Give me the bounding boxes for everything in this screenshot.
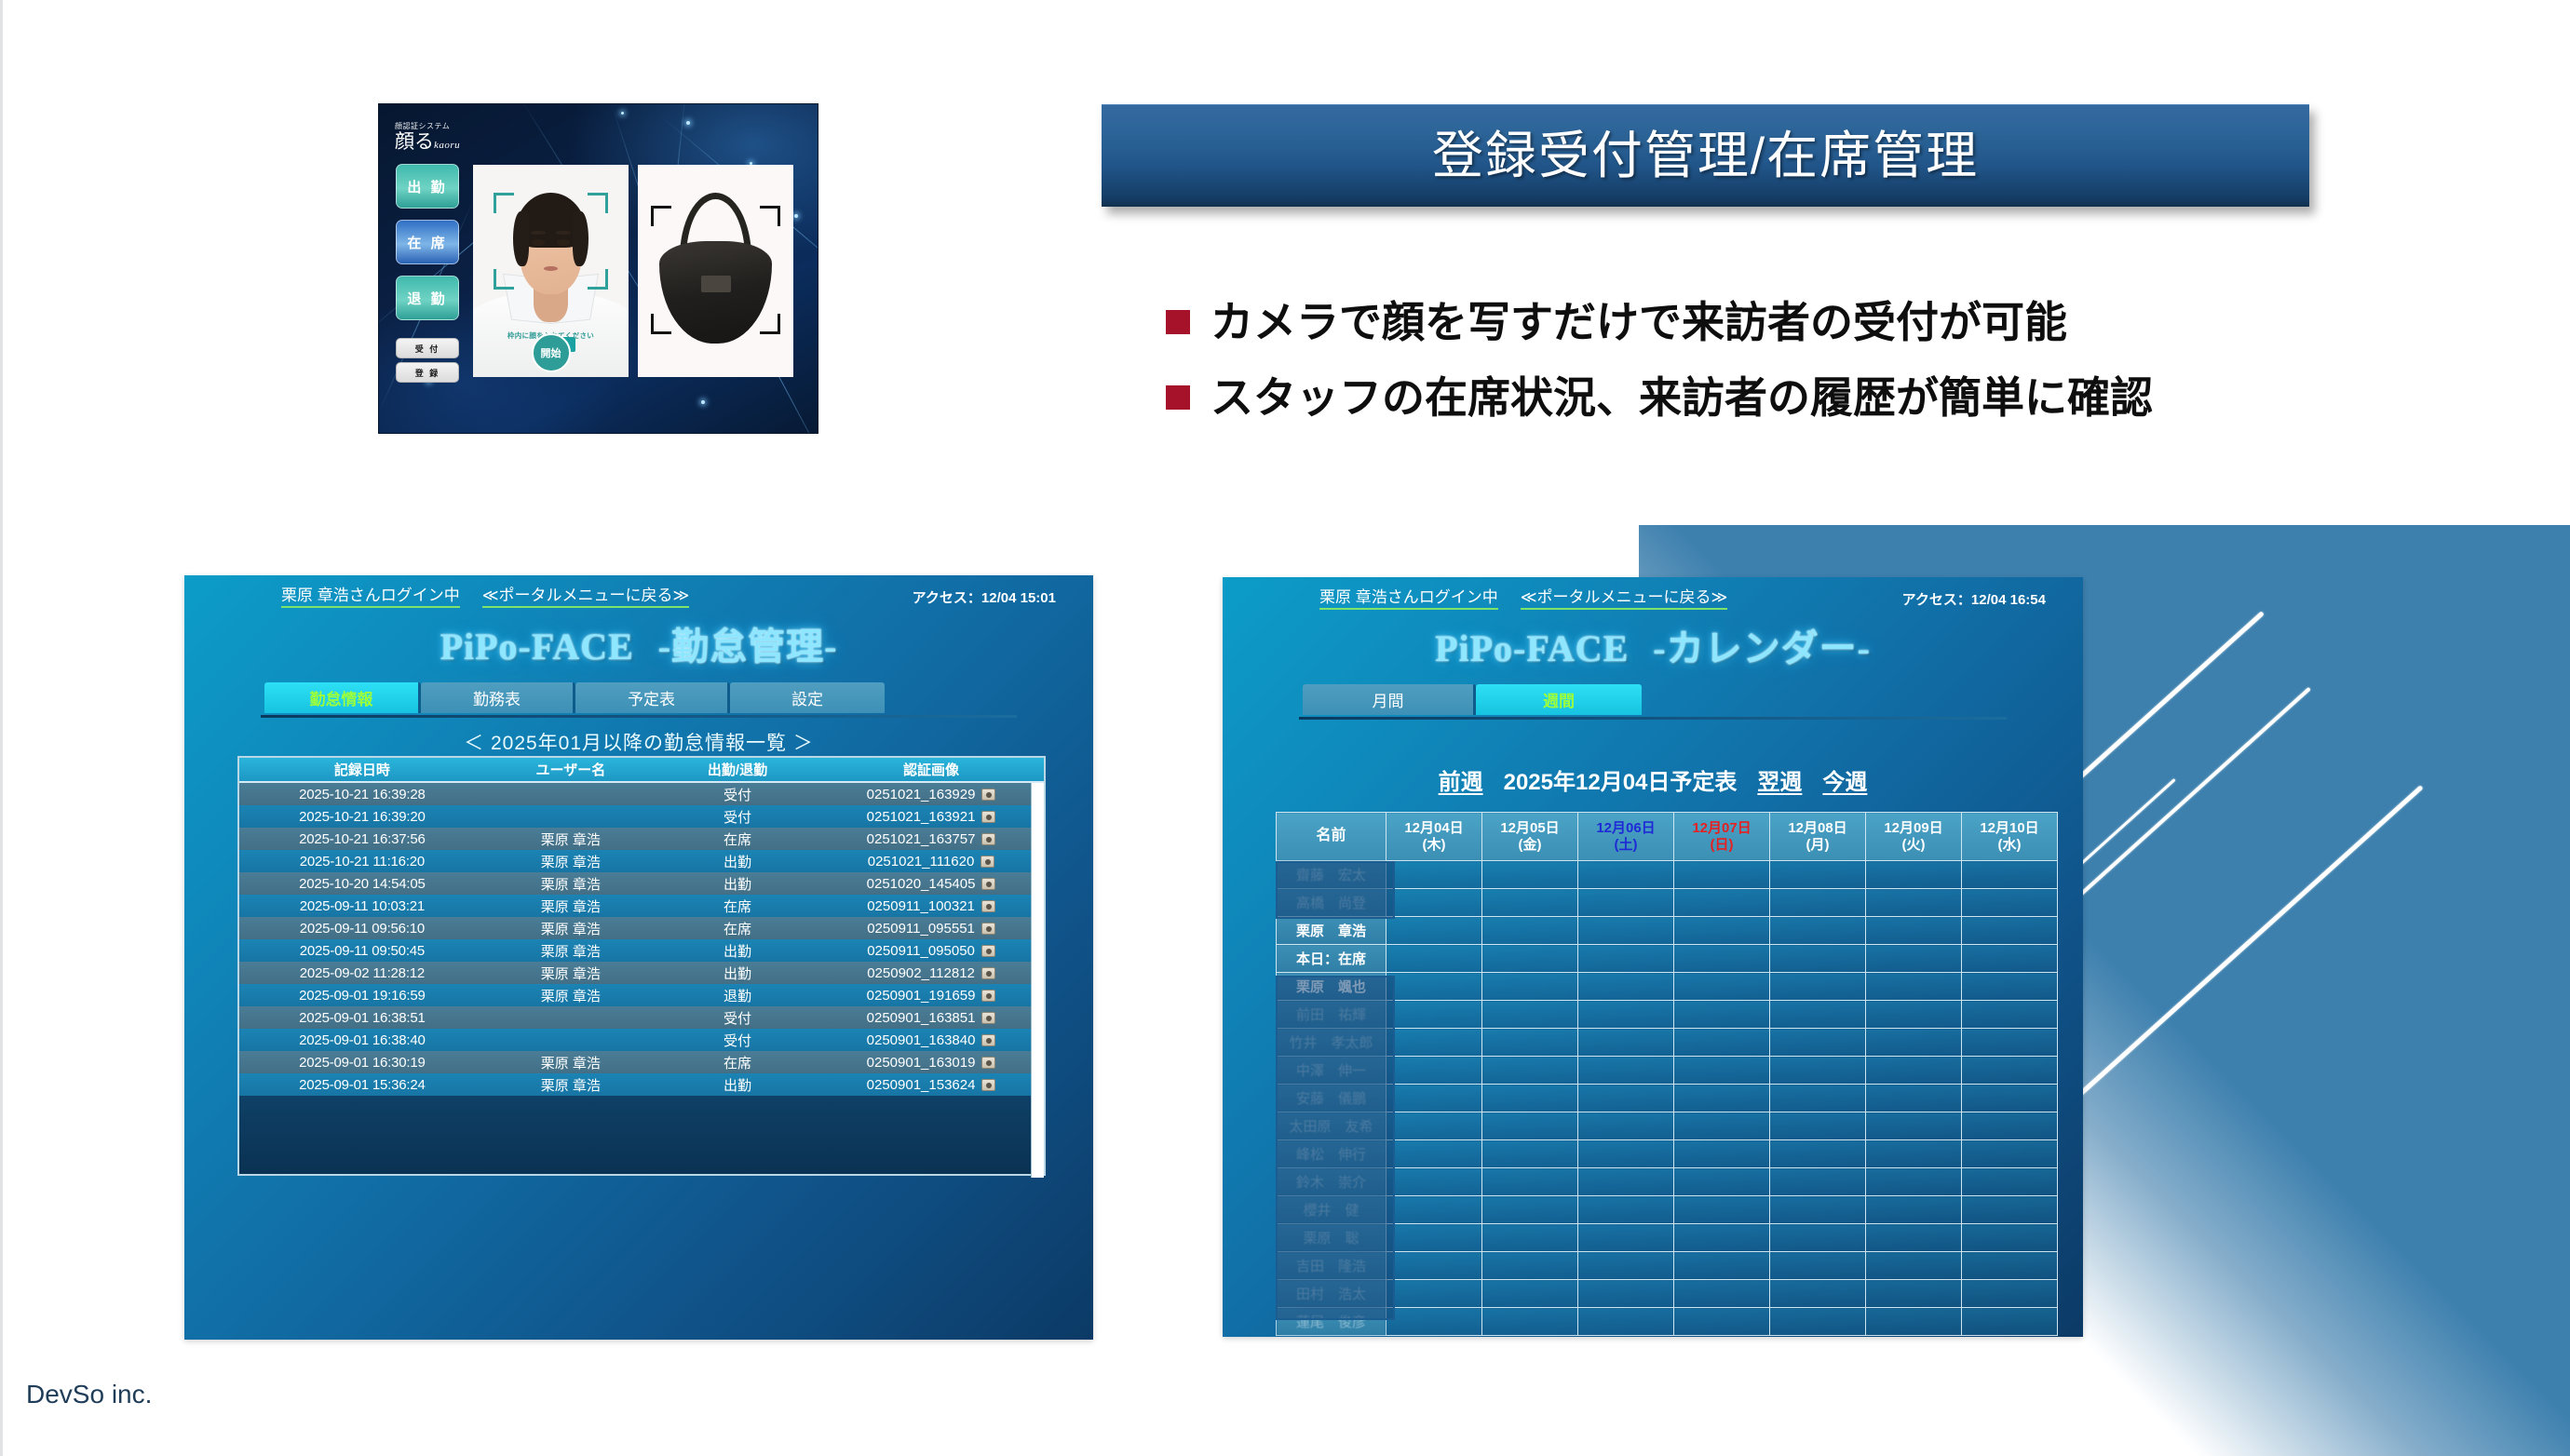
terminal-button-touroku[interactable]: 登 録 [396, 362, 459, 383]
table-row[interactable]: 峰松 伸行 [1277, 1140, 2058, 1168]
table-row[interactable]: 太田原 友希 [1277, 1112, 2058, 1140]
tab-gekkan[interactable]: 月間 [1303, 684, 1476, 715]
kaoru-logo-kanji: 顔る [395, 130, 434, 153]
camera-icon[interactable] [981, 1057, 995, 1069]
table-row[interactable]: 2025-09-01 16:38:40受付0250901_163840 [239, 1029, 1044, 1051]
cell-schedule-slot[interactable] [1674, 917, 1770, 945]
cell-schedule-slot[interactable] [1866, 1224, 1962, 1252]
column-header-day-2: 12月05日(金) [1482, 813, 1578, 861]
start-button[interactable]: 開始 [532, 333, 571, 372]
cell-schedule-slot[interactable] [1674, 1280, 1770, 1308]
cell-schedule-slot[interactable] [1770, 1280, 1866, 1308]
cell-schedule-slot[interactable] [1674, 1057, 1770, 1085]
object-frame-bracket-br [728, 282, 780, 334]
tab-kinmuhyo[interactable]: 勤務表 [421, 682, 575, 713]
camera-icon[interactable] [981, 856, 994, 868]
column-header-inout: 出勤/退勤 [656, 760, 818, 779]
cell-schedule-slot[interactable] [1674, 1029, 1770, 1057]
object-capture-pane[interactable] [638, 165, 793, 377]
cell-schedule-slot[interactable] [1770, 1112, 1866, 1140]
column-header-day-4: 12月07日(日) [1674, 813, 1770, 861]
cell-schedule-slot[interactable] [1770, 1140, 1866, 1168]
cell-schedule-slot[interactable] [1578, 861, 1674, 889]
cell-datetime: 2025-10-20 14:54:05 [239, 876, 485, 892]
cell-person-name: 高橋 尚登 [1277, 889, 1386, 917]
cell-schedule-slot[interactable] [1386, 1085, 1482, 1112]
cell-schedule-slot[interactable] [1962, 945, 2058, 973]
table-scrollbar[interactable] [1031, 783, 1044, 1178]
bag-tag [701, 276, 731, 292]
cell-schedule-slot[interactable] [1386, 1280, 1482, 1308]
cell-schedule-slot[interactable] [1578, 1224, 1674, 1252]
network-dot [794, 214, 798, 218]
cell-inout: 受付 [656, 1031, 818, 1050]
cell-schedule-slot[interactable] [1578, 945, 1674, 973]
network-dot [686, 121, 690, 125]
kaoru-logo: 顔認証システム 顔るkaoru [395, 121, 460, 152]
cell-schedule-slot[interactable] [1386, 1112, 1482, 1140]
app-logo-system: PiPo-FACE [440, 626, 634, 667]
tab-yoteihyo[interactable]: 予定表 [575, 682, 730, 713]
camera-icon[interactable] [981, 967, 995, 979]
cell-schedule-slot[interactable] [1578, 1140, 1674, 1168]
table-row[interactable]: 2025-09-02 11:28:12栗原 章浩出勤0250902_112812 [239, 962, 1044, 984]
cell-schedule-slot[interactable] [1866, 917, 1962, 945]
cell-schedule-slot[interactable] [1674, 1112, 1770, 1140]
slide-title-banner: 登録受付管理/在席管理 [1102, 104, 2309, 207]
cell-inout: 出勤 [656, 1075, 818, 1095]
column-header-datetime: 記録日時 [239, 760, 485, 779]
cell-schedule-slot[interactable] [1962, 1140, 2058, 1168]
cell-schedule-slot[interactable] [1482, 1224, 1578, 1252]
table-body: 2025-10-21 16:39:28受付0251021_1639292025-… [239, 783, 1044, 1096]
cell-schedule-slot[interactable] [1482, 1029, 1578, 1057]
face-frame-bracket-bl [494, 237, 546, 290]
cell-schedule-slot[interactable] [1482, 945, 1578, 973]
cell-schedule-slot[interactable] [1482, 1057, 1578, 1085]
cell-person-name: 齋藤 宏太 [1277, 861, 1386, 889]
terminal-button-zaiseki[interactable]: 在 席 [396, 220, 459, 264]
cell-schedule-slot[interactable] [1866, 1280, 1962, 1308]
cell-schedule-slot[interactable] [1482, 917, 1578, 945]
cell-image: 0250902_112812 [818, 965, 1044, 981]
table-row[interactable]: 2025-10-21 16:39:28受付0251021_163929 [239, 783, 1044, 805]
table-row[interactable]: 2025-09-01 15:36:24栗原 章浩出勤0250901_153624 [239, 1073, 1044, 1096]
this-week-link[interactable]: 今週 [1822, 770, 1867, 795]
bullet-square-icon [1166, 385, 1190, 410]
cell-schedule-slot[interactable] [1866, 1029, 1962, 1057]
cell-image: 0251021_163757 [818, 831, 1044, 847]
cell-schedule-slot[interactable] [1482, 973, 1578, 1001]
cell-datetime: 2025-09-01 19:16:59 [239, 988, 485, 1004]
table-row[interactable]: 齋藤 宏太 [1277, 861, 2058, 889]
cell-schedule-slot[interactable] [1482, 861, 1578, 889]
login-user-label: 栗原 章浩さんログイン中 [1319, 584, 1498, 610]
cell-schedule-slot[interactable] [1962, 1057, 2058, 1085]
cell-inout: 出勤 [656, 941, 818, 961]
tabs-underline [1299, 717, 2007, 720]
cell-schedule-slot[interactable] [1386, 1252, 1482, 1280]
cell-username: 栗原 章浩 [485, 897, 656, 916]
bullet-square-icon [1166, 310, 1190, 334]
camera-icon[interactable] [981, 990, 995, 1002]
face-frame-bracket-br [556, 237, 608, 290]
table-empty-area [239, 1096, 1044, 1176]
weekly-schedule-table: 名前12月04日(木)12月05日(金)12月06日(土)12月07日(日)12… [1276, 812, 2058, 1336]
portal-menu-link[interactable]: ≪ポータルメニューに戻る≫ [1521, 584, 1728, 610]
kaoru-logo-roman: kaoru [434, 140, 460, 151]
cell-schedule-slot[interactable] [1578, 1001, 1674, 1029]
cell-person-name: 栗原 颯也 [1277, 973, 1386, 1001]
table-row[interactable]: 2025-09-11 10:03:21栗原 章浩在席0250911_100321 [239, 895, 1044, 917]
access-timestamp: アクセス：12/04 15:01 [913, 587, 1056, 607]
cell-username: 栗原 章浩 [485, 986, 656, 1005]
cell-schedule-slot[interactable] [1482, 1112, 1578, 1140]
cell-image: 0251020_145405 [818, 876, 1044, 892]
cell-inout: 出勤 [656, 964, 818, 983]
cell-schedule-slot[interactable] [1482, 889, 1578, 917]
cell-schedule-slot[interactable] [1674, 1168, 1770, 1196]
cell-username: 栗原 章浩 [485, 874, 656, 894]
network-dot [621, 112, 624, 115]
column-header-day-1: 12月04日(木) [1386, 813, 1482, 861]
cell-schedule-slot[interactable] [1578, 1112, 1674, 1140]
cell-inout: 在席 [656, 919, 818, 938]
cell-schedule-slot[interactable] [1386, 861, 1482, 889]
cell-datetime: 2025-10-21 16:39:20 [239, 809, 485, 825]
cell-schedule-slot[interactable] [1770, 917, 1866, 945]
cell-schedule-slot[interactable] [1386, 1001, 1482, 1029]
table-row[interactable]: 栗原 聡 [1277, 1224, 2058, 1252]
cell-schedule-slot[interactable] [1578, 1057, 1674, 1085]
cell-schedule-slot[interactable] [1482, 1140, 1578, 1168]
table-row[interactable]: 蓮尾 俊彦 [1277, 1308, 2058, 1336]
table-row[interactable]: 吉田 隆浩 [1277, 1252, 2058, 1280]
cell-image: 0250911_095050 [818, 943, 1044, 959]
cell-image: 0250901_163019 [818, 1055, 1044, 1071]
cell-schedule-slot[interactable] [1770, 973, 1866, 1001]
cell-schedule-slot[interactable] [1674, 889, 1770, 917]
cell-schedule-slot[interactable] [1674, 973, 1770, 1001]
cell-schedule-slot[interactable] [1962, 1112, 2058, 1140]
cell-schedule-slot[interactable] [1770, 945, 1866, 973]
table-row[interactable]: 鈴木 崇介 [1277, 1168, 2058, 1196]
cell-image: 0250901_191659 [818, 988, 1044, 1004]
table-header-row: 名前12月04日(木)12月05日(金)12月06日(土)12月07日(日)12… [1277, 813, 2058, 861]
cell-schedule-slot[interactable] [1962, 889, 2058, 917]
slide-left-rule [0, 0, 3, 1456]
cell-schedule-slot[interactable] [1386, 1140, 1482, 1168]
cell-schedule-slot[interactable] [1866, 861, 1962, 889]
cell-image: 0250901_153624 [818, 1077, 1044, 1093]
cell-schedule-slot[interactable] [1770, 1168, 1866, 1196]
table-row[interactable]: 高橋 尚登 [1277, 889, 2058, 917]
cell-schedule-slot[interactable] [1386, 1308, 1482, 1336]
table-row[interactable]: 2025-10-21 11:16:20栗原 章浩出勤0251021_111620 [239, 850, 1044, 872]
cell-person-name: 峰松 伸行 [1277, 1140, 1386, 1168]
face-capture-pane[interactable]: 枠内に顔を入れてください 開始 [473, 165, 629, 377]
app-tabs: 月間 週間 [1303, 684, 1642, 715]
cell-image: 0251021_163921 [818, 809, 1044, 825]
cell-schedule-slot[interactable] [1770, 1001, 1866, 1029]
tab-kintai-joho[interactable]: 勤怠情報 [264, 682, 421, 713]
table-row[interactable]: 2025-09-01 16:38:51受付0250901_163851 [239, 1006, 1044, 1029]
cell-person-name: 本日：在席 [1277, 945, 1386, 973]
calendar-app-screenshot: 栗原 章浩さんログイン中 ≪ポータルメニューに戻る≫ アクセス：12/04 16… [1223, 577, 2083, 1337]
object-frame-bracket-tr [728, 206, 780, 258]
cell-schedule-slot[interactable] [1386, 889, 1482, 917]
next-week-link[interactable]: 翌週 [1757, 770, 1802, 795]
cell-schedule-slot[interactable] [1770, 1308, 1866, 1336]
table-row[interactable]: 栗原 颯也 [1277, 973, 2058, 1001]
cell-inout: 退勤 [656, 986, 818, 1005]
cell-schedule-slot[interactable] [1866, 1196, 1962, 1224]
cell-schedule-slot[interactable] [1578, 1280, 1674, 1308]
table-row[interactable]: 2025-09-11 09:50:45栗原 章浩出勤0250911_095050 [239, 939, 1044, 962]
cell-schedule-slot[interactable] [1674, 861, 1770, 889]
table-row[interactable]: 本日：在席 [1277, 945, 2058, 973]
cell-schedule-slot[interactable] [1482, 1001, 1578, 1029]
cell-person-name: 櫻井 健 [1277, 1196, 1386, 1224]
cell-schedule-slot[interactable] [1962, 1168, 2058, 1196]
cell-datetime: 2025-10-21 16:37:56 [239, 831, 485, 847]
cell-schedule-slot[interactable] [1770, 1252, 1866, 1280]
cell-datetime: 2025-10-21 16:39:28 [239, 787, 485, 802]
cell-schedule-slot[interactable] [1866, 945, 1962, 973]
cell-schedule-slot[interactable] [1866, 973, 1962, 1001]
bullet-list: カメラで顔を写すだけで来訪者の受付が可能 スタッフの在席状況、来訪者の履歴が簡単… [1166, 298, 2376, 449]
cell-schedule-slot[interactable] [1482, 1252, 1578, 1280]
column-header-name: 名前 [1277, 813, 1386, 861]
table-row[interactable]: 2025-09-01 19:16:59栗原 章浩退勤0250901_191659 [239, 984, 1044, 1006]
cell-schedule-slot[interactable] [1578, 973, 1674, 1001]
cell-schedule-slot[interactable] [1386, 1168, 1482, 1196]
cell-schedule-slot[interactable] [1386, 1196, 1482, 1224]
cell-schedule-slot[interactable] [1770, 1224, 1866, 1252]
cell-person-name: 安藤 儀鵬 [1277, 1085, 1386, 1112]
cell-schedule-slot[interactable] [1578, 917, 1674, 945]
cell-person-name: 鈴木 崇介 [1277, 1168, 1386, 1196]
cell-datetime: 2025-09-01 15:36:24 [239, 1077, 485, 1093]
cell-schedule-slot[interactable] [1386, 1224, 1482, 1252]
calendar-navigation: 前週2025年12月04日予定表翌週今週 [1223, 763, 2083, 796]
cell-person-name: 田村 浩太 [1277, 1280, 1386, 1308]
prev-week-link[interactable]: 前週 [1439, 770, 1483, 795]
cell-inout: 受付 [656, 785, 818, 804]
cell-schedule-slot[interactable] [1866, 889, 1962, 917]
column-header-image: 認証画像 [818, 760, 1044, 779]
list-caption: ＜ 2025年01月以降の勤怠情報一覧 ＞ [184, 728, 1093, 756]
camera-icon[interactable] [981, 923, 995, 935]
column-header-day-3: 12月06日(土) [1578, 813, 1674, 861]
cell-image: 0250901_163840 [818, 1032, 1044, 1048]
camera-icon[interactable] [981, 1012, 995, 1024]
cell-schedule-slot[interactable] [1866, 1308, 1962, 1336]
cell-schedule-slot[interactable] [1674, 1196, 1770, 1224]
cell-person-name: 中澤 伸一 [1277, 1057, 1386, 1085]
object-frame-bracket-bl [651, 282, 703, 334]
terminal-button-taikin[interactable]: 退 勤 [396, 276, 459, 320]
cell-schedule-slot[interactable] [1482, 1308, 1578, 1336]
table-row[interactable]: 安藤 儀鵬 [1277, 1085, 2058, 1112]
cell-schedule-slot[interactable] [1866, 1057, 1962, 1085]
camera-icon[interactable] [981, 945, 995, 957]
list-item: スタッフの在席状況、来訪者の履歴が簡単に確認 [1166, 373, 2376, 423]
cell-image: 0251021_111620 [818, 854, 1044, 870]
cell-schedule-slot[interactable] [1386, 1057, 1482, 1085]
cell-schedule-slot[interactable] [1866, 1252, 1962, 1280]
cell-schedule-slot[interactable] [1866, 1112, 1962, 1140]
cell-schedule-slot[interactable] [1578, 889, 1674, 917]
table-row[interactable]: 2025-10-20 14:54:05栗原 章浩出勤0251020_145405 [239, 872, 1044, 895]
cell-schedule-slot[interactable] [1770, 889, 1866, 917]
column-header-day-5: 12月08日(月) [1770, 813, 1866, 861]
cell-datetime: 2025-09-01 16:30:19 [239, 1055, 485, 1071]
cell-schedule-slot[interactable] [1386, 917, 1482, 945]
bullet-text: スタッフの在席状況、来訪者の履歴が簡単に確認 [1211, 373, 2153, 423]
cell-schedule-slot[interactable] [1674, 1252, 1770, 1280]
app-logo-module: -勤怠管理- [658, 626, 838, 667]
column-header-day-7: 12月10日(水) [1962, 813, 2058, 861]
cell-person-name: 前田 祐輝 [1277, 1001, 1386, 1029]
cell-schedule-slot[interactable] [1866, 1085, 1962, 1112]
table-row[interactable]: 2025-10-21 16:37:56栗原 章浩在席0251021_163757 [239, 828, 1044, 850]
cell-schedule-slot[interactable] [1962, 973, 2058, 1001]
cell-schedule-slot[interactable] [1482, 1196, 1578, 1224]
cell-schedule-slot[interactable] [1386, 1029, 1482, 1057]
table-row[interactable]: 櫻井 健 [1277, 1196, 2058, 1224]
cell-image: 0250901_163851 [818, 1010, 1044, 1026]
cell-schedule-slot[interactable] [1866, 1168, 1962, 1196]
cell-image: 0250911_100321 [818, 898, 1044, 914]
cell-schedule-slot[interactable] [1962, 1085, 2058, 1112]
app-logo-module: -カレンダー- [1653, 627, 1871, 669]
tab-shukan[interactable]: 週間 [1476, 684, 1642, 715]
cell-person-name: 栗原 聡 [1277, 1224, 1386, 1252]
list-item: カメラで顔を写すだけで来訪者の受付が可能 [1166, 298, 2376, 347]
column-header-username: ユーザー名 [485, 760, 656, 779]
table-row[interactable]: 栗原 章浩 [1277, 917, 2058, 945]
cell-schedule-slot[interactable] [1770, 1196, 1866, 1224]
cell-schedule-slot[interactable] [1674, 945, 1770, 973]
app-topbar: 栗原 章浩さんログイン中 ≪ポータルメニューに戻る≫ アクセス：12/04 16… [1223, 577, 2083, 616]
cell-inout: 在席 [656, 1053, 818, 1072]
cell-schedule-slot[interactable] [1674, 1001, 1770, 1029]
table-row[interactable]: 2025-09-11 09:56:10栗原 章浩在席0250911_095551 [239, 917, 1044, 939]
app-logo: PiPo-FACE-カレンダー- [1223, 618, 2083, 672]
cell-schedule-slot[interactable] [1578, 1085, 1674, 1112]
cell-schedule-slot[interactable] [1962, 861, 2058, 889]
cell-username: 栗原 章浩 [485, 919, 656, 938]
cell-schedule-slot[interactable] [1578, 1029, 1674, 1057]
app-logo-system: PiPo-FACE [1435, 627, 1629, 669]
cell-schedule-slot[interactable] [1962, 1308, 2058, 1336]
attendance-table: 記録日時 ユーザー名 出勤/退勤 認証画像 2025-10-21 16:39:2… [237, 756, 1046, 1176]
camera-icon[interactable] [981, 1079, 995, 1091]
cell-schedule-slot[interactable] [1482, 1168, 1578, 1196]
cell-schedule-slot[interactable] [1770, 861, 1866, 889]
cell-schedule-slot[interactable] [1962, 1280, 2058, 1308]
calendar-title: 2025年12月04日予定表 [1504, 770, 1738, 795]
face-recognition-terminal-screenshot: 顔認証システム 顔るkaoru 出 勤 在 席 退 勤 受 付 登 録 [378, 103, 818, 434]
table-row[interactable]: 2025-09-01 16:30:19栗原 章浩在席0250901_163019 [239, 1051, 1044, 1073]
table-row[interactable]: 田村 浩太 [1277, 1280, 2058, 1308]
cell-person-name: 栗原 章浩 [1277, 917, 1386, 945]
cell-schedule-slot[interactable] [1866, 1140, 1962, 1168]
cell-schedule-slot[interactable] [1770, 1057, 1866, 1085]
cell-schedule-slot[interactable] [1962, 1029, 2058, 1057]
login-user-label: 栗原 章浩さんログイン中 [281, 582, 460, 608]
cell-schedule-slot[interactable] [1962, 1001, 2058, 1029]
cell-schedule-slot[interactable] [1578, 1196, 1674, 1224]
cell-schedule-slot[interactable] [1386, 945, 1482, 973]
app-logo: PiPo-FACE-勤怠管理- [184, 616, 1093, 670]
cell-schedule-slot[interactable] [1674, 1085, 1770, 1112]
page-title: 登録受付管理/在席管理 [1432, 130, 1979, 182]
network-dot [701, 400, 705, 404]
portal-menu-link[interactable]: ≪ポータルメニューに戻る≫ [482, 582, 690, 608]
cell-schedule-slot[interactable] [1962, 917, 2058, 945]
access-timestamp: アクセス：12/04 16:54 [1902, 589, 2046, 609]
cell-person-name: 蓮尾 俊彦 [1277, 1308, 1386, 1336]
attendance-app-screenshot: 栗原 章浩さんログイン中 ≪ポータルメニューに戻る≫ アクセス：12/04 15… [184, 575, 1093, 1340]
cell-username: 栗原 章浩 [485, 964, 656, 983]
table-row[interactable]: 前田 祐輝 [1277, 1001, 2058, 1029]
camera-icon[interactable] [981, 789, 995, 801]
tab-settei[interactable]: 設定 [730, 682, 885, 713]
camera-icon[interactable] [981, 833, 995, 845]
kaoru-logo-main: 顔るkaoru [395, 132, 460, 152]
cell-schedule-slot[interactable] [1674, 1308, 1770, 1336]
camera-icon[interactable] [981, 900, 995, 912]
object-frame-bracket-tl [651, 206, 703, 258]
cell-schedule-slot[interactable] [1482, 1085, 1578, 1112]
slide-canvas: 登録受付管理/在席管理 カメラで顔を写すだけで来訪者の受付が可能 スタッフの在席… [0, 0, 2570, 1456]
cell-username: 栗原 章浩 [485, 1075, 656, 1095]
cell-inout: 在席 [656, 829, 818, 849]
terminal-button-uketsuke[interactable]: 受 付 [396, 338, 459, 358]
cell-schedule-slot[interactable] [1674, 1140, 1770, 1168]
cell-person-name: 吉田 隆浩 [1277, 1252, 1386, 1280]
table-row[interactable]: 竹井 孝太郎 [1277, 1029, 2058, 1057]
cell-schedule-slot[interactable] [1866, 1001, 1962, 1029]
camera-icon[interactable] [981, 811, 995, 823]
cell-username: 栗原 章浩 [485, 829, 656, 849]
table-body: 齋藤 宏太高橋 尚登栗原 章浩本日：在席栗原 颯也前田 祐輝竹井 孝太郎中澤 伸… [1277, 861, 2058, 1336]
terminal-button-shukkin[interactable]: 出 勤 [396, 164, 459, 209]
bullet-text: カメラで顔を写すだけで来訪者の受付が可能 [1211, 298, 2067, 347]
cell-schedule-slot[interactable] [1770, 1085, 1866, 1112]
cell-inout: 出勤 [656, 874, 818, 894]
cell-schedule-slot[interactable] [1578, 1308, 1674, 1336]
cell-datetime: 2025-10-21 11:16:20 [239, 854, 485, 870]
cell-schedule-slot[interactable] [1770, 1029, 1866, 1057]
cell-schedule-slot[interactable] [1386, 973, 1482, 1001]
camera-icon[interactable] [981, 878, 995, 890]
cell-schedule-slot[interactable] [1578, 1252, 1674, 1280]
table-row[interactable]: 2025-10-21 16:39:20受付0251021_163921 [239, 805, 1044, 828]
cell-schedule-slot[interactable] [1674, 1224, 1770, 1252]
camera-icon[interactable] [981, 1034, 995, 1046]
cell-schedule-slot[interactable] [1962, 1224, 2058, 1252]
table-row[interactable]: 中澤 伸一 [1277, 1057, 2058, 1085]
cell-schedule-slot[interactable] [1962, 1196, 2058, 1224]
cell-schedule-slot[interactable] [1962, 1252, 2058, 1280]
cell-schedule-slot[interactable] [1482, 1280, 1578, 1308]
cell-schedule-slot[interactable] [1578, 1168, 1674, 1196]
cell-username: 栗原 章浩 [485, 1053, 656, 1072]
cell-username: 栗原 章浩 [485, 852, 656, 871]
